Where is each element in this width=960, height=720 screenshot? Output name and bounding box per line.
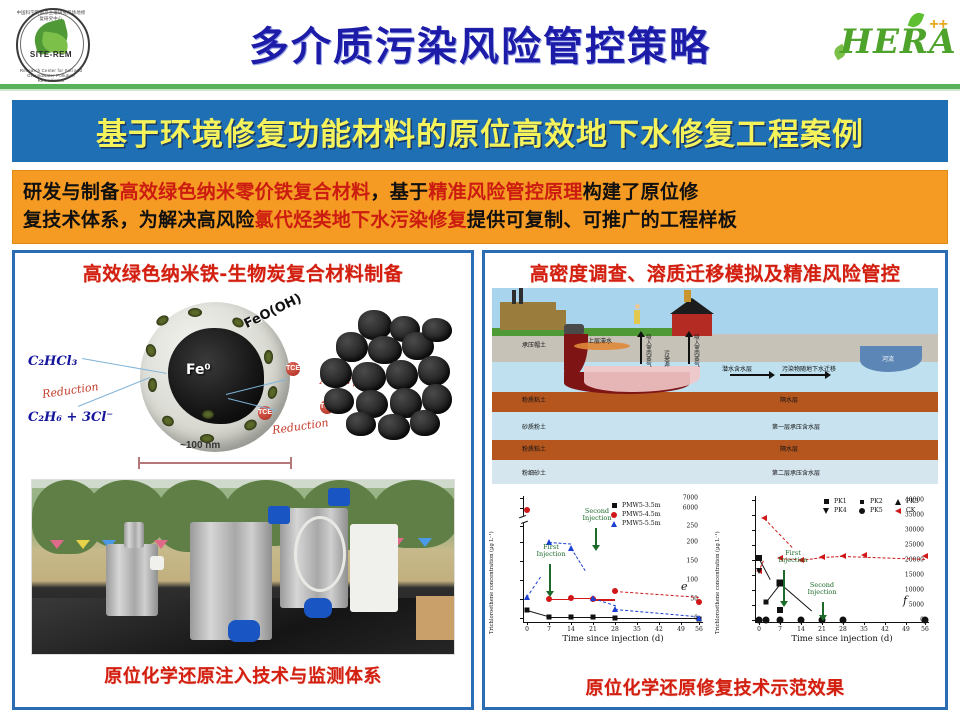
mixing-tank-small bbox=[106, 544, 158, 616]
chart-f-xticklabel: 21 bbox=[818, 626, 826, 633]
chart-e-point-red bbox=[612, 588, 618, 594]
legend-marker-square-icon bbox=[857, 500, 867, 504]
chart-f-yticklabel: 15000 bbox=[905, 572, 924, 579]
legend-item: PMW5-5.5m bbox=[609, 520, 661, 527]
chart-e-point-black bbox=[613, 616, 618, 621]
chart-f-point-pk5 bbox=[777, 617, 784, 624]
reduction-label-left: Reduction bbox=[41, 380, 99, 401]
cs-label-vadose: 承压帽土 bbox=[522, 340, 546, 349]
results-charts: Trichloroethene concentration (µg L⁻¹) bbox=[489, 488, 941, 668]
right-panel-caption: 原位化学还原修复技术示范效果 bbox=[485, 674, 945, 700]
legend-label: PK1 bbox=[834, 498, 847, 505]
legend-item: PMW5-3.5m bbox=[609, 502, 661, 509]
chart-e-ytick bbox=[520, 508, 523, 509]
page-title: 多介质污染风险管控策略 bbox=[180, 14, 780, 72]
chart-f-ytick bbox=[752, 605, 755, 606]
pore-1 bbox=[155, 313, 171, 327]
legend-label: CK bbox=[906, 507, 915, 514]
cs-label-vapor-1: 吸入室内蒸气 bbox=[644, 334, 652, 366]
legend-label: PMW5-4.5m bbox=[622, 511, 661, 518]
chart-e-yticklabel: 200 bbox=[687, 539, 698, 546]
chart-e-point-red bbox=[568, 595, 574, 601]
chart-e-yticklabel: 6000 bbox=[683, 505, 698, 512]
pellet bbox=[410, 410, 440, 436]
summary-text-c: 构建了原位修 bbox=[583, 181, 699, 203]
chart-f-point-ck bbox=[840, 553, 846, 559]
legend-label: PK5 bbox=[870, 507, 883, 514]
logo-arc-bottom-text: Research Center for Soil and Groundwater… bbox=[16, 68, 86, 83]
chart-f-annotation-second: Second Injection bbox=[799, 582, 845, 597]
hera-superscript: ++ bbox=[929, 16, 948, 34]
chart-e-xticklabel: 7 bbox=[547, 626, 551, 633]
chart-e-yticklabel: 250 bbox=[687, 523, 698, 530]
summary-text-b: ，基于 bbox=[370, 181, 428, 203]
chart-e-ytick bbox=[520, 498, 523, 499]
cs-label-fine-sand: 粉细砂土 bbox=[522, 468, 546, 477]
chart-e-panel-letter: e bbox=[681, 580, 688, 593]
chart-f-yticklabel: 30000 bbox=[905, 527, 924, 534]
chart-f-ytick bbox=[752, 515, 755, 516]
chart-e-xtick bbox=[681, 622, 682, 625]
banner-text: 基于环境修复功能材料的原位高效地下水修复工程案例 bbox=[96, 109, 864, 154]
chart-f-point-pk5 bbox=[756, 617, 763, 624]
chart-f-annotation-arrow-second bbox=[822, 602, 824, 616]
pore-6 bbox=[242, 418, 258, 433]
chart-f-point-pk4 bbox=[756, 568, 762, 574]
cs-label-source: 污染源 bbox=[662, 350, 670, 376]
summary-text-d: 复技术体系，为解决高风险 bbox=[23, 209, 255, 231]
chart-f-point-ck bbox=[922, 553, 928, 559]
scale-text: ~100 nm bbox=[180, 440, 220, 451]
legend-item: PK1 bbox=[821, 498, 857, 505]
chart-f-ylabel: Trichloroethene concentration (µg L⁻¹) bbox=[715, 494, 721, 634]
pellet bbox=[378, 414, 410, 440]
chart-f-xticklabel: 35 bbox=[860, 626, 868, 633]
cs-label-clay-2: 粉质粘土 bbox=[522, 444, 546, 453]
poly-tank bbox=[350, 524, 398, 612]
chart-f-xtick bbox=[885, 622, 886, 625]
chart-e-xtick bbox=[571, 622, 572, 625]
chart-e-xtick bbox=[593, 622, 594, 625]
right-panel-heading: 高密度调查、溶质迁移模拟及精准风险管控 bbox=[485, 259, 945, 286]
pore-2 bbox=[188, 308, 202, 317]
chart-e-point-black bbox=[591, 615, 596, 620]
reactant-label: C₂HCl₃ bbox=[28, 354, 77, 369]
chart-e-point-blue bbox=[612, 606, 618, 612]
chart-f-yticklabel: 25000 bbox=[905, 542, 924, 549]
pore-8 bbox=[160, 414, 175, 428]
layer-confined-aquifer-1 bbox=[492, 412, 938, 440]
pellet bbox=[386, 360, 418, 390]
pore-11 bbox=[202, 410, 214, 419]
chart-e-xtick bbox=[549, 622, 550, 625]
header-divider-light bbox=[0, 89, 960, 91]
scale-bar-cap-right bbox=[290, 457, 292, 469]
summary-text-e: 提供可复制、可推广的工程样板 bbox=[467, 209, 737, 231]
chart-f-line-pk2 bbox=[766, 583, 782, 603]
factory-annex bbox=[540, 310, 566, 330]
chart-e-ytick bbox=[520, 599, 523, 600]
scale-bar-cap-left bbox=[138, 457, 140, 469]
chart-f-annotation-first: First Injection bbox=[773, 550, 813, 565]
chart-e-ylabel: Trichloroethene concentration (µg L⁻¹) bbox=[489, 494, 495, 634]
pore-5 bbox=[266, 385, 279, 400]
summary-line-1: 研发与制备高效绿色纳米零价铁复合材料，基于精准风险管控原理构建了原位修 bbox=[23, 179, 937, 207]
biochar-pellets-image bbox=[310, 310, 460, 450]
slide-header: 中国科学院南京土壤研究所场地修复研究中心 SITE-REM Research C… bbox=[0, 0, 960, 88]
chart-e-yticklabel: 150 bbox=[687, 558, 698, 565]
nano-iron-schematic: Fe⁰ FeO(OH) C₂HCl₃ C₂H₆ + 3Cl⁻ Reduction… bbox=[20, 288, 466, 473]
scale-bar bbox=[138, 456, 292, 468]
chart-panel-f: Trichloroethene concentration (µg L⁻¹) 0… bbox=[715, 488, 941, 668]
chart-e-point-blue bbox=[590, 595, 596, 601]
chart-e-xticklabel: 49 bbox=[677, 626, 685, 633]
chart-f-yticklabel: 10000 bbox=[905, 587, 924, 594]
legend-row: PK1 PK2 PK3 bbox=[821, 498, 929, 507]
cs-label-confined-1: 第一层承压含水层 bbox=[772, 422, 820, 431]
chart-e-xticklabel: 28 bbox=[611, 626, 619, 633]
chart-e-point-blue bbox=[696, 615, 702, 621]
product-label: C₂H₆ + 3Cl⁻ bbox=[28, 410, 113, 425]
summary-highlight-1: 高效绿色纳米零价铁复合材料 bbox=[120, 181, 371, 203]
cs-label-river: 河流 bbox=[882, 354, 894, 363]
chart-f-xticklabel: 14 bbox=[797, 626, 805, 633]
hydrogeology-cross-section: 承压帽土 上层滞水 吸入室内蒸气 污染源 吸入室内蒸气 潜水含水层 污染物随地下… bbox=[492, 288, 938, 484]
legend-item: PK2 bbox=[857, 498, 893, 505]
chart-e-ytick bbox=[520, 542, 523, 543]
chart-f-xticklabel: 7 bbox=[778, 626, 782, 633]
pellet bbox=[418, 356, 450, 386]
chart-e-yticklabel: 7000 bbox=[683, 495, 698, 502]
legend-marker-triangle-down-icon bbox=[821, 508, 831, 514]
chart-e-xticklabel: 35 bbox=[633, 626, 641, 633]
smoke-stack-1 bbox=[512, 290, 516, 304]
chart-e-point-black bbox=[547, 615, 552, 620]
control-panel bbox=[150, 556, 164, 570]
chart-f-point-pk5 bbox=[922, 617, 929, 624]
logo-arc-top-text: 中国科学院南京土壤研究所场地修复研究中心 bbox=[16, 10, 86, 22]
iron-core bbox=[168, 328, 264, 424]
left-content-panel: 高效绿色纳米铁-生物炭复合材料制备 Fe⁰ FeO(OH) C₂HCl₃ C₂H bbox=[12, 250, 474, 710]
chart-e-ytick bbox=[520, 618, 523, 619]
tce-dot-1: TCE bbox=[286, 362, 300, 376]
chart-e-ytick bbox=[520, 526, 523, 527]
chart-f-xtick bbox=[864, 622, 865, 625]
pellet bbox=[352, 362, 386, 392]
chart-f-point-ck bbox=[819, 554, 825, 560]
cs-label-silt: 砂质粉土 bbox=[522, 422, 546, 431]
chart-e-annotation-arrow-second bbox=[595, 528, 597, 546]
pore-9 bbox=[148, 378, 157, 392]
chart-e-point-blue bbox=[524, 594, 530, 600]
chart-e-legend: PMW5-3.5m PMW5-4.5m PMW5-5.5m bbox=[609, 502, 661, 529]
chart-e-xticklabel: 21 bbox=[589, 626, 597, 633]
chart-f-annotation-arrow-first bbox=[783, 570, 785, 602]
pellet bbox=[336, 332, 368, 362]
chart-e-point-black bbox=[525, 608, 530, 613]
chart-e-xlabel: Time since injection (d) bbox=[523, 634, 703, 644]
summary-box: 研发与制备高效绿色纳米零价铁复合材料，基于精准风险管控原理构建了原位修 复技术体… bbox=[12, 170, 948, 244]
house-chimney bbox=[684, 290, 691, 302]
chart-e-xticklabel: 56 bbox=[695, 626, 703, 633]
chart-f-xticklabel: 42 bbox=[881, 626, 889, 633]
chart-e-xtick bbox=[615, 622, 616, 625]
legend-marker-circle-icon bbox=[609, 512, 619, 518]
pellet bbox=[346, 412, 376, 436]
chart-f-line-ck bbox=[763, 518, 792, 548]
layer-silty-clay-1 bbox=[492, 392, 938, 412]
legend-item: PK3 bbox=[893, 498, 929, 505]
chart-e-point-black bbox=[569, 615, 574, 620]
core-label: Fe⁰ bbox=[186, 362, 211, 378]
person-figure bbox=[634, 310, 640, 324]
layer-confined-aquifer-2 bbox=[492, 460, 938, 484]
chart-e-line-blue bbox=[615, 609, 699, 618]
cardboard-box bbox=[416, 596, 455, 640]
chart-f-ytick bbox=[752, 560, 755, 561]
logo-label: SITE-REM bbox=[16, 50, 86, 59]
chart-e-ytick bbox=[520, 561, 523, 562]
slide-root: 中国科学院南京土壤研究所场地修复研究中心 SITE-REM Research C… bbox=[0, 0, 960, 720]
legend-marker-triangle-icon bbox=[609, 521, 619, 527]
flag bbox=[76, 540, 90, 549]
legend-marker-triangle-icon bbox=[893, 499, 903, 505]
groundwater-flow-arrow-1 bbox=[730, 374, 770, 376]
cs-label-aquitard-1: 隔水层 bbox=[780, 395, 798, 404]
legend-item: PK5 bbox=[857, 507, 893, 514]
summary-highlight-2: 精准风险管控原理 bbox=[428, 181, 582, 203]
chart-e-xtick bbox=[637, 622, 638, 625]
right-content-panel: 高密度调查、溶质迁移模拟及精准风险管控 bbox=[482, 250, 948, 710]
nanoparticle-sphere: Fe⁰ bbox=[140, 302, 290, 452]
legend-label: PMW5-5.5m bbox=[622, 520, 661, 527]
pellet bbox=[324, 388, 354, 414]
flag bbox=[50, 540, 64, 549]
cs-label-migration: 污染物随地下水迁移 bbox=[782, 364, 836, 373]
chart-f-xticklabel: 56 bbox=[921, 626, 929, 633]
site-rem-logo: 中国科学院南京土壤研究所场地修复研究中心 SITE-REM Research C… bbox=[8, 6, 94, 82]
chart-e-xtick bbox=[659, 622, 660, 625]
groundwater-flow-arrow-2 bbox=[780, 374, 826, 376]
chart-f-xtick bbox=[906, 622, 907, 625]
legend-marker-square-icon bbox=[609, 503, 619, 508]
legend-marker-triangle-left-icon bbox=[893, 508, 903, 514]
pump-2 bbox=[304, 598, 332, 618]
agitator-motor-1 bbox=[268, 506, 290, 524]
chart-e-line-blue bbox=[570, 548, 585, 571]
cs-label-vapor-2: 吸入室内蒸气 bbox=[692, 334, 700, 366]
cs-label-unconfined: 潜水含水层 bbox=[722, 364, 752, 373]
chart-f-point-pk5 bbox=[763, 617, 770, 624]
legend-item: PK4 bbox=[821, 507, 857, 514]
chart-f-ytick bbox=[752, 590, 755, 591]
chart-e-point-red bbox=[696, 599, 702, 605]
pump-1 bbox=[228, 620, 260, 642]
chart-f-ytick bbox=[752, 530, 755, 531]
chart-f-xticklabel: 0 bbox=[757, 626, 761, 633]
legend-item: CK bbox=[893, 507, 929, 514]
blue-banner: 基于环境修复功能材料的原位高效地下水修复工程案例 bbox=[12, 100, 948, 162]
summary-text-a: 研发与制备 bbox=[23, 181, 120, 203]
chart-e-annotation-arrow-first bbox=[549, 564, 551, 592]
chart-e-annotation-first: First Injection bbox=[531, 544, 571, 559]
smoke-stack-2 bbox=[519, 288, 523, 304]
legend-label: PMW5-3.5m bbox=[622, 502, 661, 509]
chart-e-xaxis bbox=[523, 622, 703, 623]
chart-f-xticklabel: 49 bbox=[902, 626, 910, 633]
chart-e-ytick bbox=[520, 580, 523, 581]
vapor-intrusion-arrow-1 bbox=[640, 336, 642, 364]
chart-e-yticklabel: 100 bbox=[687, 577, 698, 584]
left-panel-heading: 高效绿色纳米铁-生物炭复合材料制备 bbox=[15, 259, 471, 286]
pore-10 bbox=[144, 343, 158, 358]
agitator-motor-2 bbox=[328, 488, 350, 506]
chart-e-axis-break bbox=[519, 515, 528, 524]
chart-f-panel-letter: f bbox=[903, 594, 907, 607]
chart-f-point-ck bbox=[861, 552, 867, 558]
mixer-motor bbox=[124, 522, 144, 548]
chart-e-point-red bbox=[524, 507, 530, 513]
chart-e-xtick bbox=[527, 622, 528, 625]
left-panel-caption: 原位化学还原注入技术与监测体系 bbox=[15, 662, 471, 688]
legend-label: PK2 bbox=[870, 498, 883, 505]
pellet bbox=[422, 318, 452, 342]
chart-f-ytick bbox=[752, 500, 755, 501]
chart-f-point-pk5 bbox=[798, 617, 805, 624]
chart-e-xtick bbox=[699, 622, 700, 625]
chart-f-ytick bbox=[752, 575, 755, 576]
cs-label-clay-1: 粉质粘土 bbox=[522, 395, 546, 404]
flexible-hose bbox=[294, 516, 346, 592]
legend-row: PK4 PK5 CK bbox=[821, 507, 929, 516]
chart-e-line-black bbox=[527, 610, 548, 617]
chart-e-line-black bbox=[615, 618, 699, 619]
chart-f-xticklabel: 28 bbox=[839, 626, 847, 633]
summary-line-2: 复技术体系，为解决高风险氯代烃类地下水污染修复提供可复制、可推广的工程样板 bbox=[23, 207, 937, 235]
cs-label-confined-2: 第二层承压含水层 bbox=[772, 468, 820, 477]
chart-panel-e: Trichloroethene concentration (µg L⁻¹) bbox=[489, 488, 715, 668]
chart-f-point-pk1 bbox=[777, 607, 783, 613]
chart-f-xlabel: Time since injection (d) bbox=[755, 634, 929, 644]
summary-highlight-3: 氯代烃类地下水污染修复 bbox=[255, 209, 467, 231]
chart-f-yticklabel: 5000 bbox=[909, 602, 924, 609]
chart-e-xticklabel: 14 bbox=[567, 626, 575, 633]
chart-f-legend: PK1 PK2 PK3 P bbox=[821, 498, 929, 516]
chart-f-point-pk5 bbox=[840, 617, 847, 624]
house-roof bbox=[670, 298, 714, 314]
hera-logo: HERA ++ bbox=[832, 10, 952, 76]
injection-system-photo bbox=[31, 479, 455, 655]
pore-4 bbox=[264, 350, 273, 364]
chart-f-ytick bbox=[752, 545, 755, 546]
layer-silty-clay-2 bbox=[492, 440, 938, 460]
person-head bbox=[635, 304, 640, 309]
cs-label-perched: 上层滞水 bbox=[588, 336, 612, 345]
legend-marker-circle-icon bbox=[857, 508, 867, 514]
legend-item: PMW5-4.5m bbox=[609, 511, 661, 518]
chart-e-xticklabel: 0 bbox=[525, 626, 529, 633]
chart-f-point-ck bbox=[761, 515, 767, 521]
chart-e-xticklabel: 42 bbox=[655, 626, 663, 633]
pellet bbox=[320, 358, 352, 388]
cs-label-aquitard-2: 隔水层 bbox=[780, 444, 798, 453]
legend-label: PK3 bbox=[906, 498, 919, 505]
flag bbox=[418, 538, 432, 547]
legend-label: PK4 bbox=[834, 507, 847, 514]
legend-marker-square-icon bbox=[821, 499, 831, 504]
vapor-intrusion-arrow-2 bbox=[688, 336, 690, 364]
scale-bar-line bbox=[138, 462, 292, 464]
